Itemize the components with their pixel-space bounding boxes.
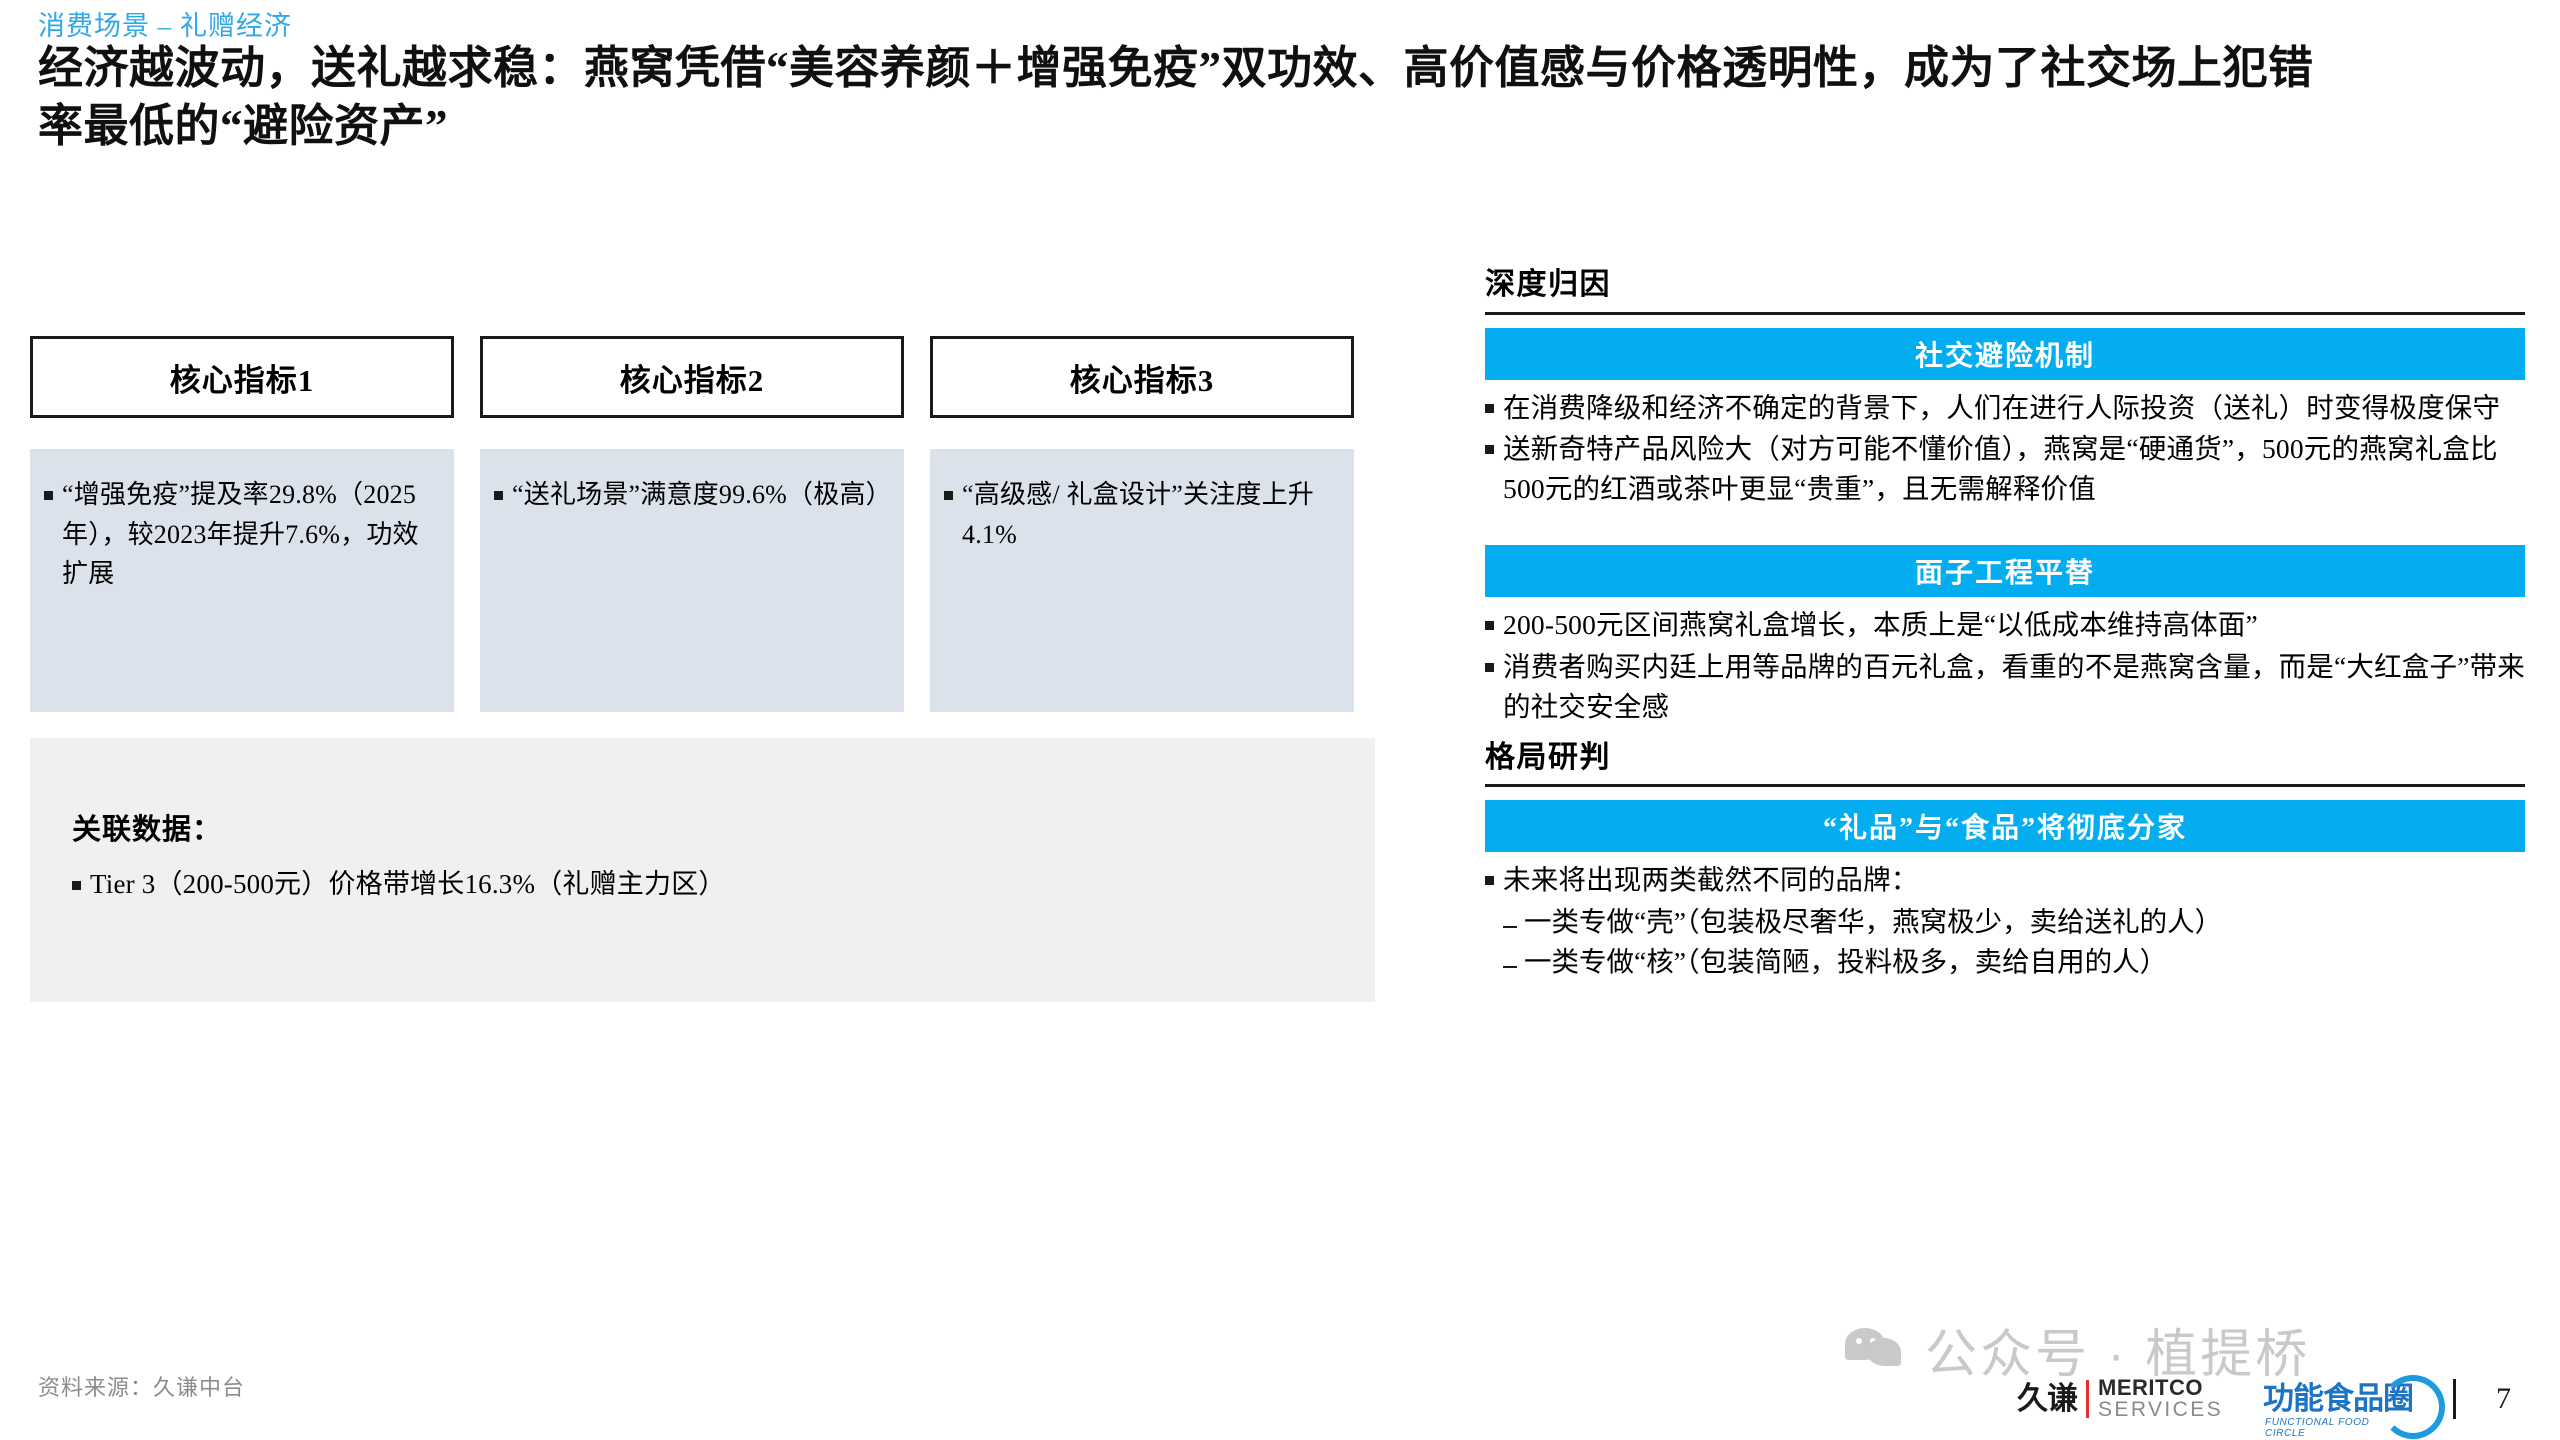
square-bullet-icon <box>944 491 953 500</box>
source-note: 资料来源：久谦中台 <box>38 1370 245 1402</box>
metric-card-3-title: 核心指标3 <box>1070 355 1215 400</box>
blue-bar-gift-vs-food-split: “礼品”与“食品”将彻底分家 <box>1485 800 2525 852</box>
left-column: 核心指标1 “增强免疫”提及率29.8%（2025年），较2023年提升7.6%… <box>30 336 1375 1002</box>
metric-card-2-body: “送礼场景”满意度99.6%（极高） <box>480 449 904 712</box>
square-bullet-icon <box>1485 876 1494 885</box>
sub-bullet-3-2: 一类专做“核”（包装简陋，投料极多，卖给自用的人） <box>1524 942 2167 982</box>
dash-bullet-icon <box>1503 926 1517 928</box>
square-bullet-icon <box>1485 445 1494 454</box>
metric-card-2-text: “送礼场景”满意度99.6%（极高） <box>512 475 882 515</box>
list-item: Tier 3（200-500元）价格带增长16.3%（礼赠主力区） <box>72 864 1335 905</box>
blue-bar-face-project-substitute: 面子工程平替 <box>1485 545 2525 597</box>
section-header-deep-attribution: 深度归因 <box>1485 268 2525 315</box>
page-eyebrow: 消费场景 – 礼赠经济 <box>38 4 292 43</box>
spacer <box>1485 511 2525 533</box>
metric-card-3-body: “高级感/ 礼盒设计”关注度上升4.1% <box>930 449 1354 712</box>
metric-card-1-body: “增强免疫”提及率29.8%（2025年），较2023年提升7.6%，功效扩展 <box>30 449 454 712</box>
list-item: 在消费降级和经济不确定的背景下，人们在进行人际投资（送礼）时变得极度保守 <box>1485 388 2525 428</box>
bullet-2-2: 消费者购买内廷上用等品牌的百元礼盒，看重的不是燕窝含量，而是“大红盒子”带来的社… <box>1503 647 2525 727</box>
metric-card-1-text: “增强免疫”提及率29.8%（2025年），较2023年提升7.6%，功效扩展 <box>62 475 432 594</box>
divider <box>2086 1380 2089 1418</box>
list-item: 消费者购买内廷上用等品牌的百元礼盒，看重的不是燕窝含量，而是“大红盒子”带来的社… <box>1485 647 2525 727</box>
metric-card-3-text: “高级感/ 礼盒设计”关注度上升4.1% <box>962 475 1332 554</box>
meritco-logo-cn: 久谦 <box>2017 1383 2077 1414</box>
bullet-group-3: 未来将出现两类截然不同的品牌： 一类专做“壳”（包装极尽奢华，燕窝极少，卖给送礼… <box>1485 860 2525 982</box>
dash-bullet-icon <box>1503 966 1517 968</box>
sub-list-item: 一类专做“壳”（包装极尽奢华，燕窝极少，卖给送礼的人） <box>1503 902 2525 942</box>
square-bullet-icon <box>1485 663 1494 672</box>
bullet-group-1: 在消费降级和经济不确定的背景下，人们在进行人际投资（送礼）时变得极度保守 送新奇… <box>1485 388 2525 510</box>
related-data-title: 关联数据： <box>72 806 1335 848</box>
metric-card-1-title: 核心指标1 <box>170 355 315 400</box>
bullet-3-1: 未来将出现两类截然不同的品牌： <box>1503 860 2525 900</box>
square-bullet-icon <box>1485 621 1494 630</box>
related-data-item-1: Tier 3（200-500元）价格带增长16.3%（礼赠主力区） <box>90 864 1335 905</box>
meritco-logo-line1: MERITCO <box>2098 1377 2223 1399</box>
blue-bar-social-risk-avoidance: 社交避险机制 <box>1485 328 2525 380</box>
section-header-landscape-analysis: 格局研判 <box>1485 741 2525 788</box>
circle-icon <box>2381 1375 2445 1439</box>
metric-card-2-title: 核心指标2 <box>620 355 765 400</box>
bullet-group-2: 200-500元区间燕窝礼盒增长，本质上是“以低成本维持高体面” 消费者购买内廷… <box>1485 605 2525 727</box>
sub-bullet-3-1: 一类专做“壳”（包装极尽奢华，燕窝极少，卖给送礼的人） <box>1524 902 2222 942</box>
list-item: 未来将出现两类截然不同的品牌： <box>1485 860 2525 900</box>
footer-logo-bar: 久谦 MERITCO SERVICES 功能食品圈 FUNCTIONAL FOO… <box>2017 1377 2511 1420</box>
list-item: 送新奇特产品风险大（对方可能不懂价值），燕窝是“硬通货”，500元的燕窝礼盒比5… <box>1485 429 2525 509</box>
page-title: 经济越波动，送礼越求稳：燕窝凭借“美容养颜＋增强免疫”双功效、高价值感与价格透明… <box>38 40 2318 155</box>
meritco-logo-en: MERITCO SERVICES <box>2098 1377 2223 1420</box>
bullet-1-1: 在消费降级和经济不确定的背景下，人们在进行人际投资（送礼）时变得极度保守 <box>1503 388 2525 428</box>
sub-list-item: 一类专做“核”（包装简陋，投料极多，卖给自用的人） <box>1503 942 2525 982</box>
bullet-1-2: 送新奇特产品风险大（对方可能不懂价值），燕窝是“硬通货”，500元的燕窝礼盒比5… <box>1503 429 2525 509</box>
square-bullet-icon <box>494 491 503 500</box>
meritco-logo: 久谦 MERITCO SERVICES <box>2017 1377 2223 1420</box>
list-item: “送礼场景”满意度99.6%（极高） <box>494 475 882 515</box>
page-number: 7 <box>2496 1382 2511 1416</box>
list-item: 200-500元区间燕窝礼盒增长，本质上是“以低成本维持高体面” <box>1485 605 2525 645</box>
square-bullet-icon <box>44 491 53 500</box>
metric-card-3: 核心指标3 “高级感/ 礼盒设计”关注度上升4.1% <box>930 336 1354 712</box>
functional-food-circle-logo: 功能食品圈 FUNCTIONAL FOOD CIRCLE <box>2263 1383 2413 1414</box>
metric-card-3-header: 核心指标3 <box>930 336 1354 418</box>
spacer <box>1485 729 2525 741</box>
watermark: 公众号 · 植提桥 <box>1845 1312 2310 1387</box>
metric-card-2-header: 核心指标2 <box>480 336 904 418</box>
list-item: “高级感/ 礼盒设计”关注度上升4.1% <box>944 475 1332 554</box>
metric-cards-row: 核心指标1 “增强免疫”提及率29.8%（2025年），较2023年提升7.6%… <box>30 336 1375 712</box>
metric-card-2: 核心指标2 “送礼场景”满意度99.6%（极高） <box>480 336 904 712</box>
related-data-panel: 关联数据： Tier 3（200-500元）价格带增长16.3%（礼赠主力区） <box>30 738 1375 1002</box>
divider <box>2453 1379 2456 1419</box>
square-bullet-icon <box>72 881 81 890</box>
metric-card-1: 核心指标1 “增强免疫”提及率29.8%（2025年），较2023年提升7.6%… <box>30 336 454 712</box>
square-bullet-icon <box>1485 404 1494 413</box>
bullet-2-1: 200-500元区间燕窝礼盒增长，本质上是“以低成本维持高体面” <box>1503 605 2525 645</box>
list-item: “增强免疫”提及率29.8%（2025年），较2023年提升7.6%，功效扩展 <box>44 475 432 594</box>
wechat-icon <box>1845 1326 1909 1374</box>
right-column: 深度归因 社交避险机制 在消费降级和经济不确定的背景下，人们在进行人际投资（送礼… <box>1485 268 2525 982</box>
metric-card-1-header: 核心指标1 <box>30 336 454 418</box>
meritco-logo-line2: SERVICES <box>2098 1399 2223 1420</box>
